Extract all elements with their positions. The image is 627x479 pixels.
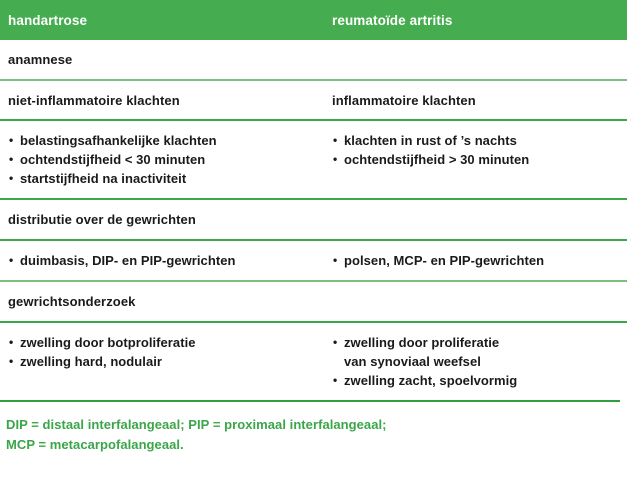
footnote-legend: DIP = distaal interfalangeaal; PIP = pro…: [0, 402, 627, 455]
list-item: zwelling door proliferatie van synoviaal…: [332, 333, 627, 371]
list-item: duimbasis, DIP- en PIP-gewrichten: [8, 251, 316, 270]
section-title-distributie: distributie over de gewrichten: [0, 212, 196, 227]
list-item: zwelling door botproliferatie: [8, 333, 316, 352]
bullet-list: klachten in rust of ’s nachts ochtendsti…: [332, 131, 627, 169]
bullet-cell-handartrose-anamnese: belastingsafhankelijke klachten ochtends…: [0, 131, 316, 188]
footnote-line-1: DIP = distaal interfalangeaal; PIP = pro…: [6, 415, 627, 435]
bullet-list: zwelling door botproliferatie zwelling h…: [8, 333, 316, 371]
comparison-table: handartrose reumatoïde artritis anamnese…: [0, 0, 627, 479]
bullet-cell-handartrose-distributie: duimbasis, DIP- en PIP-gewrichten: [0, 251, 316, 270]
bullets-row-gewrichtsonderzoek: zwelling door botproliferatie zwelling h…: [0, 323, 627, 400]
list-item: zwelling hard, nodulair: [8, 352, 316, 371]
column-header-reumatoide-artritis: reumatoïde artritis: [316, 13, 627, 28]
section-row-gewrichtsonderzoek: gewrichtsonderzoek: [0, 282, 627, 321]
bullets-row-anamnese: belastingsafhankelijke klachten ochtends…: [0, 121, 627, 198]
bullets-row-distributie: duimbasis, DIP- en PIP-gewrichten polsen…: [0, 241, 627, 280]
list-item-line: van synoviaal weefsel: [344, 352, 627, 371]
list-item: klachten in rust of ’s nachts: [332, 131, 627, 150]
table-header-row: handartrose reumatoïde artritis: [0, 0, 627, 40]
bullet-cell-reumatoide-artritis-gewrichtsonderzoek: zwelling door proliferatie van synoviaal…: [316, 333, 627, 390]
list-item: ochtendstijfheid < 30 minuten: [8, 150, 316, 169]
subhead-inflammatoire-klachten: inflammatoire klachten: [316, 93, 627, 108]
bullet-cell-reumatoide-artritis-distributie: polsen, MCP- en PIP-gewrichten: [316, 251, 627, 270]
section-row-anamnese: anamnese: [0, 40, 627, 79]
list-item: belastingsafhankelijke klachten: [8, 131, 316, 150]
bullet-cell-reumatoide-artritis-anamnese: klachten in rust of ’s nachts ochtendsti…: [316, 131, 627, 169]
list-item-line: zwelling door proliferatie: [344, 333, 627, 352]
list-item: polsen, MCP- en PIP-gewrichten: [332, 251, 627, 270]
bullet-list: belastingsafhankelijke klachten ochtends…: [8, 131, 316, 188]
bullet-list: zwelling door proliferatie van synoviaal…: [332, 333, 627, 390]
section-row-distributie: distributie over de gewrichten: [0, 200, 627, 239]
bullet-list: polsen, MCP- en PIP-gewrichten: [332, 251, 627, 270]
section-title-anamnese: anamnese: [0, 52, 72, 67]
bullet-list: duimbasis, DIP- en PIP-gewrichten: [8, 251, 316, 270]
section-title-gewrichtsonderzoek: gewrichtsonderzoek: [0, 294, 136, 309]
footnote-line-2: MCP = metacarpofalangeaal.: [6, 435, 627, 455]
bullet-cell-handartrose-gewrichtsonderzoek: zwelling door botproliferatie zwelling h…: [0, 333, 316, 371]
list-item: zwelling zacht, spoelvormig: [332, 371, 627, 390]
list-item: ochtendstijfheid > 30 minuten: [332, 150, 627, 169]
subhead-niet-inflammatoire-klachten: niet-inflammatoire klachten: [0, 93, 316, 108]
subhead-row-anamnese: niet-inflammatoire klachten inflammatoir…: [0, 81, 627, 119]
list-item: startstijfheid na inactiviteit: [8, 169, 316, 188]
column-header-handartrose: handartrose: [0, 13, 316, 28]
